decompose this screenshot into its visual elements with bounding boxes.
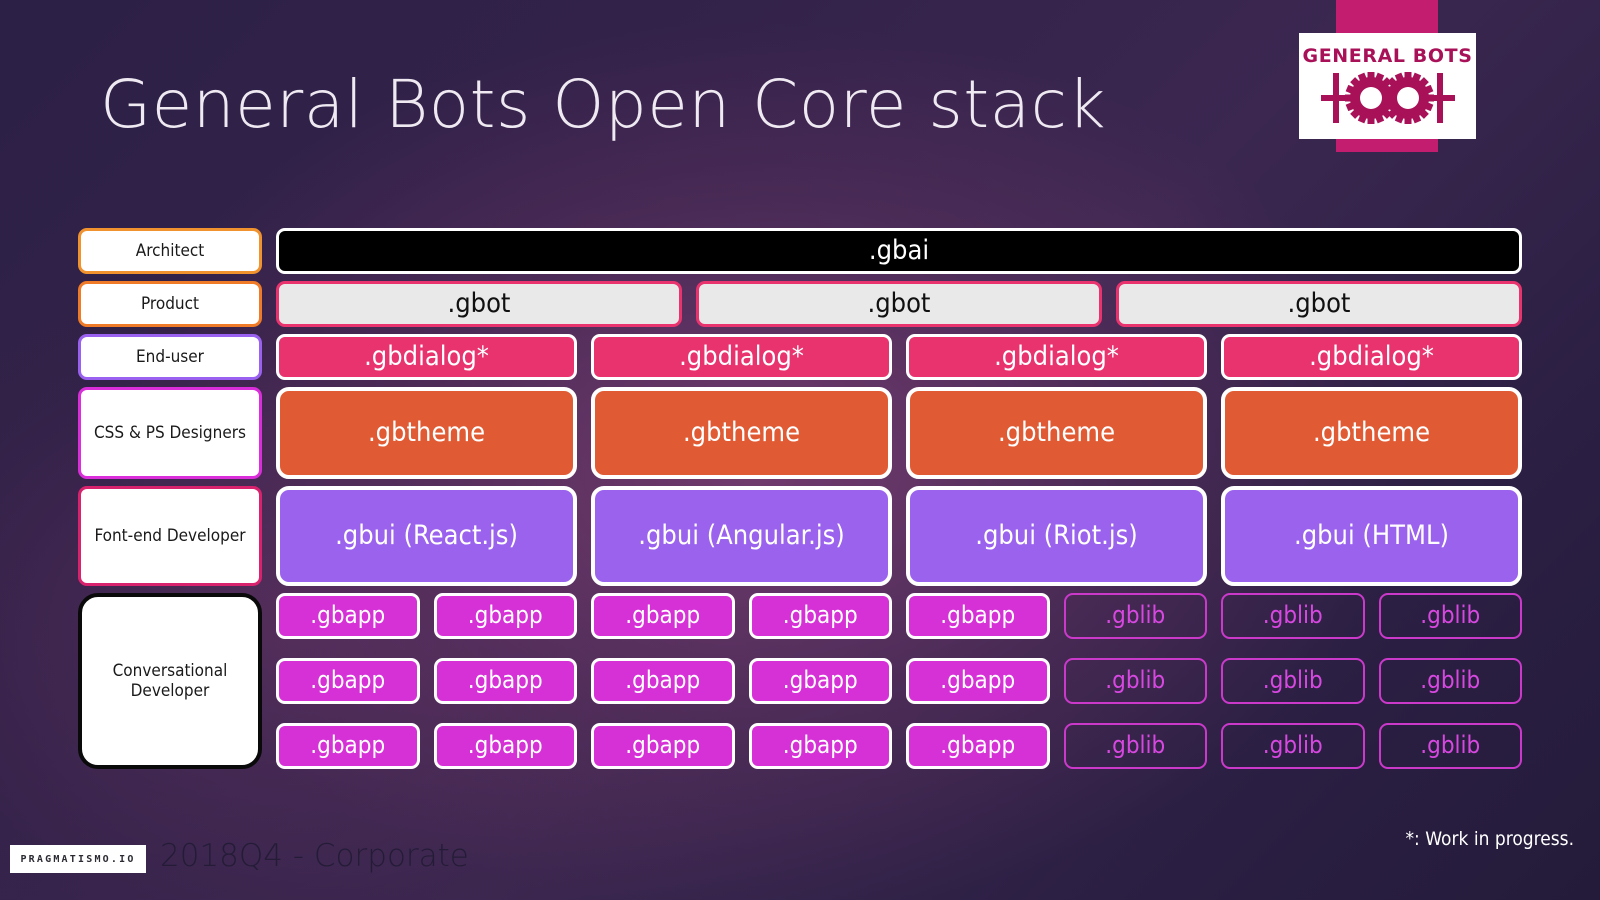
- role-label-end-user[interactable]: End-user: [78, 334, 262, 380]
- gbapp-box[interactable]: .gbapp: [749, 658, 893, 704]
- role-cell-frontend-developer: Font-end Developer: [78, 486, 262, 586]
- stack-cell[interactable]: .gbapp: [591, 593, 735, 639]
- gbapp-box[interactable]: .gbapp: [906, 723, 1050, 769]
- stack-cell[interactable]: .gblib: [1221, 723, 1365, 769]
- role-label-designers[interactable]: CSS & PS Designers: [78, 387, 262, 479]
- gbapp-box[interactable]: .gbapp: [434, 723, 578, 769]
- gbtheme-box[interactable]: .gbtheme: [276, 387, 577, 479]
- stack-cell[interactable]: .gbapp: [434, 593, 578, 639]
- stack-cell[interactable]: .gbot: [696, 281, 1102, 327]
- stack-cell[interactable]: .gbapp: [749, 658, 893, 704]
- stack-cell[interactable]: .gblib: [1379, 658, 1523, 704]
- stack-row-product: Product .gbot .gbot .gbot: [78, 281, 1522, 327]
- gblib-box[interactable]: .gblib: [1379, 658, 1523, 704]
- gbot-box[interactable]: .gbot: [696, 281, 1102, 327]
- stack-cell[interactable]: .gbapp: [276, 723, 420, 769]
- gbdialog-box[interactable]: .gbdialog*: [1221, 334, 1522, 380]
- stack-cell[interactable]: .gbapp: [276, 593, 420, 639]
- gbtheme-box[interactable]: .gbtheme: [1221, 387, 1522, 479]
- pragmatismo-logo: PRAGMATISMO.IO: [10, 845, 146, 873]
- stack-cell[interactable]: .gblib: [1379, 723, 1523, 769]
- stack-cell[interactable]: .gblib: [1064, 658, 1208, 704]
- gbui-box-html[interactable]: .gbui (HTML): [1221, 486, 1522, 586]
- bottom-grid-row: .gbapp .gbapp .gbapp .gbapp .gbapp .gbli…: [276, 658, 1522, 704]
- logo-wordmark: GENERAL BOTS: [1303, 45, 1473, 67]
- pragmatismo-wordmark: PRAGMATISMO.IO: [20, 854, 135, 865]
- bottom-grid-row: .gbapp .gbapp .gbapp .gbapp .gbapp .gbli…: [276, 723, 1522, 769]
- stack-cell[interactable]: .gbdialog*: [591, 334, 892, 380]
- stack-cell[interactable]: .gbapp: [591, 658, 735, 704]
- stack-cell[interactable]: .gbtheme: [1221, 387, 1522, 479]
- stack-cell[interactable]: .gblib: [1064, 723, 1208, 769]
- gblib-box[interactable]: .gblib: [1221, 658, 1365, 704]
- gbapp-box[interactable]: .gbapp: [749, 723, 893, 769]
- stack-diagram: Architect .gbai Product .gbot .gbot: [78, 228, 1522, 769]
- role-label-frontend-developer[interactable]: Font-end Developer: [78, 486, 262, 586]
- role-cell-architect: Architect: [78, 228, 262, 274]
- gblib-box[interactable]: .gblib: [1379, 723, 1523, 769]
- gbapp-box[interactable]: .gbapp: [591, 658, 735, 704]
- gbui-box-react[interactable]: .gbui (React.js): [276, 486, 577, 586]
- stack-cell[interactable]: .gbtheme: [591, 387, 892, 479]
- stack-row-frontend-developer: Font-end Developer .gbui (React.js) .gbu…: [78, 486, 1522, 586]
- stack-cell[interactable]: .gbtheme: [276, 387, 577, 479]
- gbapp-box[interactable]: .gbapp: [276, 593, 420, 639]
- gbtheme-box[interactable]: .gbtheme: [906, 387, 1207, 479]
- footer-caption: 2018Q4 - Corporate: [160, 838, 469, 874]
- stack-cell[interactable]: .gbapp: [906, 723, 1050, 769]
- gbot-box[interactable]: .gbot: [1116, 281, 1522, 327]
- gbapp-box[interactable]: .gbapp: [906, 658, 1050, 704]
- stack-cell[interactable]: .gblib: [1064, 593, 1208, 639]
- gbapp-box[interactable]: .gbapp: [434, 593, 578, 639]
- gbdialog-box[interactable]: .gbdialog*: [591, 334, 892, 380]
- stack-cell[interactable]: .gbapp: [591, 723, 735, 769]
- stack-cell[interactable]: .gbtheme: [906, 387, 1207, 479]
- role-label-architect[interactable]: Architect: [78, 228, 262, 274]
- stack-cell[interactable]: .gbdialog*: [906, 334, 1207, 380]
- page-title: General Bots Open Core stack: [100, 66, 1106, 143]
- stack-cell[interactable]: .gbapp: [434, 658, 578, 704]
- stack-cell[interactable]: .gblib: [1221, 593, 1365, 639]
- stack-cell[interactable]: .gbapp: [906, 593, 1050, 639]
- gbapp-box[interactable]: .gbapp: [276, 658, 420, 704]
- gblib-box[interactable]: .gblib: [1379, 593, 1523, 639]
- gblib-box[interactable]: .gblib: [1221, 593, 1365, 639]
- role-cell-designers: CSS & PS Designers: [78, 387, 262, 479]
- gblib-box[interactable]: .gblib: [1064, 723, 1208, 769]
- row-cells: .gbapp .gbapp .gbapp .gbapp .gbapp .gbli…: [276, 723, 1522, 769]
- stack-cell[interactable]: .gbapp: [749, 723, 893, 769]
- role-cell-product: Product: [78, 281, 262, 327]
- stack-cell[interactable]: .gbui (Riot.js): [906, 486, 1207, 586]
- stack-cell[interactable]: .gbapp: [749, 593, 893, 639]
- gblib-box[interactable]: .gblib: [1064, 658, 1208, 704]
- two-gears-icon: [1313, 69, 1463, 127]
- stack-cell[interactable]: .gbai: [276, 228, 1522, 274]
- stack-row-designers: CSS & PS Designers .gbtheme .gbtheme .gb…: [78, 387, 1522, 479]
- gbapp-box[interactable]: .gbapp: [906, 593, 1050, 639]
- gbapp-box[interactable]: .gbapp: [749, 593, 893, 639]
- gbapp-box[interactable]: .gbapp: [434, 658, 578, 704]
- stack-cell[interactable]: .gbdialog*: [1221, 334, 1522, 380]
- gbapp-box[interactable]: .gbapp: [591, 593, 735, 639]
- stack-row-end-user: End-user .gbdialog* .gbdialog* .gbdialog…: [78, 334, 1522, 380]
- row-cells-gbdialog: .gbdialog* .gbdialog* .gbdialog* .gbdial…: [276, 334, 1522, 380]
- gbui-box-angular[interactable]: .gbui (Angular.js): [591, 486, 892, 586]
- gbdialog-box[interactable]: .gbdialog*: [276, 334, 577, 380]
- slide-canvas: General Bots Open Core stack GENERAL BOT…: [0, 0, 1600, 900]
- stack-cell[interactable]: .gbui (Angular.js): [591, 486, 892, 586]
- stack-cell[interactable]: .gbui (React.js): [276, 486, 577, 586]
- gbot-box[interactable]: .gbot: [276, 281, 682, 327]
- stack-row-conversational-developer: Conversational Developer .gbapp .gbapp .…: [78, 593, 1522, 769]
- stack-cell[interactable]: .gblib: [1379, 593, 1523, 639]
- stack-row-architect: Architect .gbai: [78, 228, 1522, 274]
- general-bots-logo: GENERAL BOTS: [1299, 33, 1476, 139]
- row-cells: .gbapp .gbapp .gbapp .gbapp .gbapp .gbli…: [276, 593, 1522, 639]
- gbai-box[interactable]: .gbai: [276, 228, 1522, 274]
- row-cells-gbui: .gbui (React.js) .gbui (Angular.js) .gbu…: [276, 486, 1522, 586]
- gblib-box[interactable]: .gblib: [1064, 593, 1208, 639]
- footnote-work-in-progress: *: Work in progress.: [1406, 828, 1574, 850]
- role-cell-conversational-developer: Conversational Developer: [78, 593, 262, 769]
- stack-cell[interactable]: .gblib: [1221, 658, 1365, 704]
- stack-cell[interactable]: .gbdialog*: [276, 334, 577, 380]
- row-cells-gbot: .gbot .gbot .gbot: [276, 281, 1522, 327]
- stack-cell[interactable]: .gbapp: [906, 658, 1050, 704]
- role-label-conversational-developer[interactable]: Conversational Developer: [78, 593, 262, 769]
- row-cells: .gbapp .gbapp .gbapp .gbapp .gbapp .gbli…: [276, 658, 1522, 704]
- gbapp-box[interactable]: .gbapp: [591, 723, 735, 769]
- row-cells-gbai: .gbai: [276, 228, 1522, 274]
- stack-cell[interactable]: .gbot: [276, 281, 682, 327]
- row-cells-gbtheme: .gbtheme .gbtheme .gbtheme .gbtheme: [276, 387, 1522, 479]
- gbtheme-box[interactable]: .gbtheme: [591, 387, 892, 479]
- bottom-grid-row: .gbapp .gbapp .gbapp .gbapp .gbapp .gbli…: [276, 593, 1522, 639]
- bottom-grid: .gbapp .gbapp .gbapp .gbapp .gbapp .gbli…: [276, 593, 1522, 769]
- stack-cell[interactable]: .gbapp: [276, 658, 420, 704]
- gbapp-box[interactable]: .gbapp: [276, 723, 420, 769]
- stack-cell[interactable]: .gbapp: [434, 723, 578, 769]
- stack-cell[interactable]: .gbot: [1116, 281, 1522, 327]
- stack-cell[interactable]: .gbui (HTML): [1221, 486, 1522, 586]
- gblib-box[interactable]: .gblib: [1221, 723, 1365, 769]
- role-cell-end-user: End-user: [78, 334, 262, 380]
- gbdialog-box[interactable]: .gbdialog*: [906, 334, 1207, 380]
- gbui-box-riot[interactable]: .gbui (Riot.js): [906, 486, 1207, 586]
- role-label-product[interactable]: Product: [78, 281, 262, 327]
